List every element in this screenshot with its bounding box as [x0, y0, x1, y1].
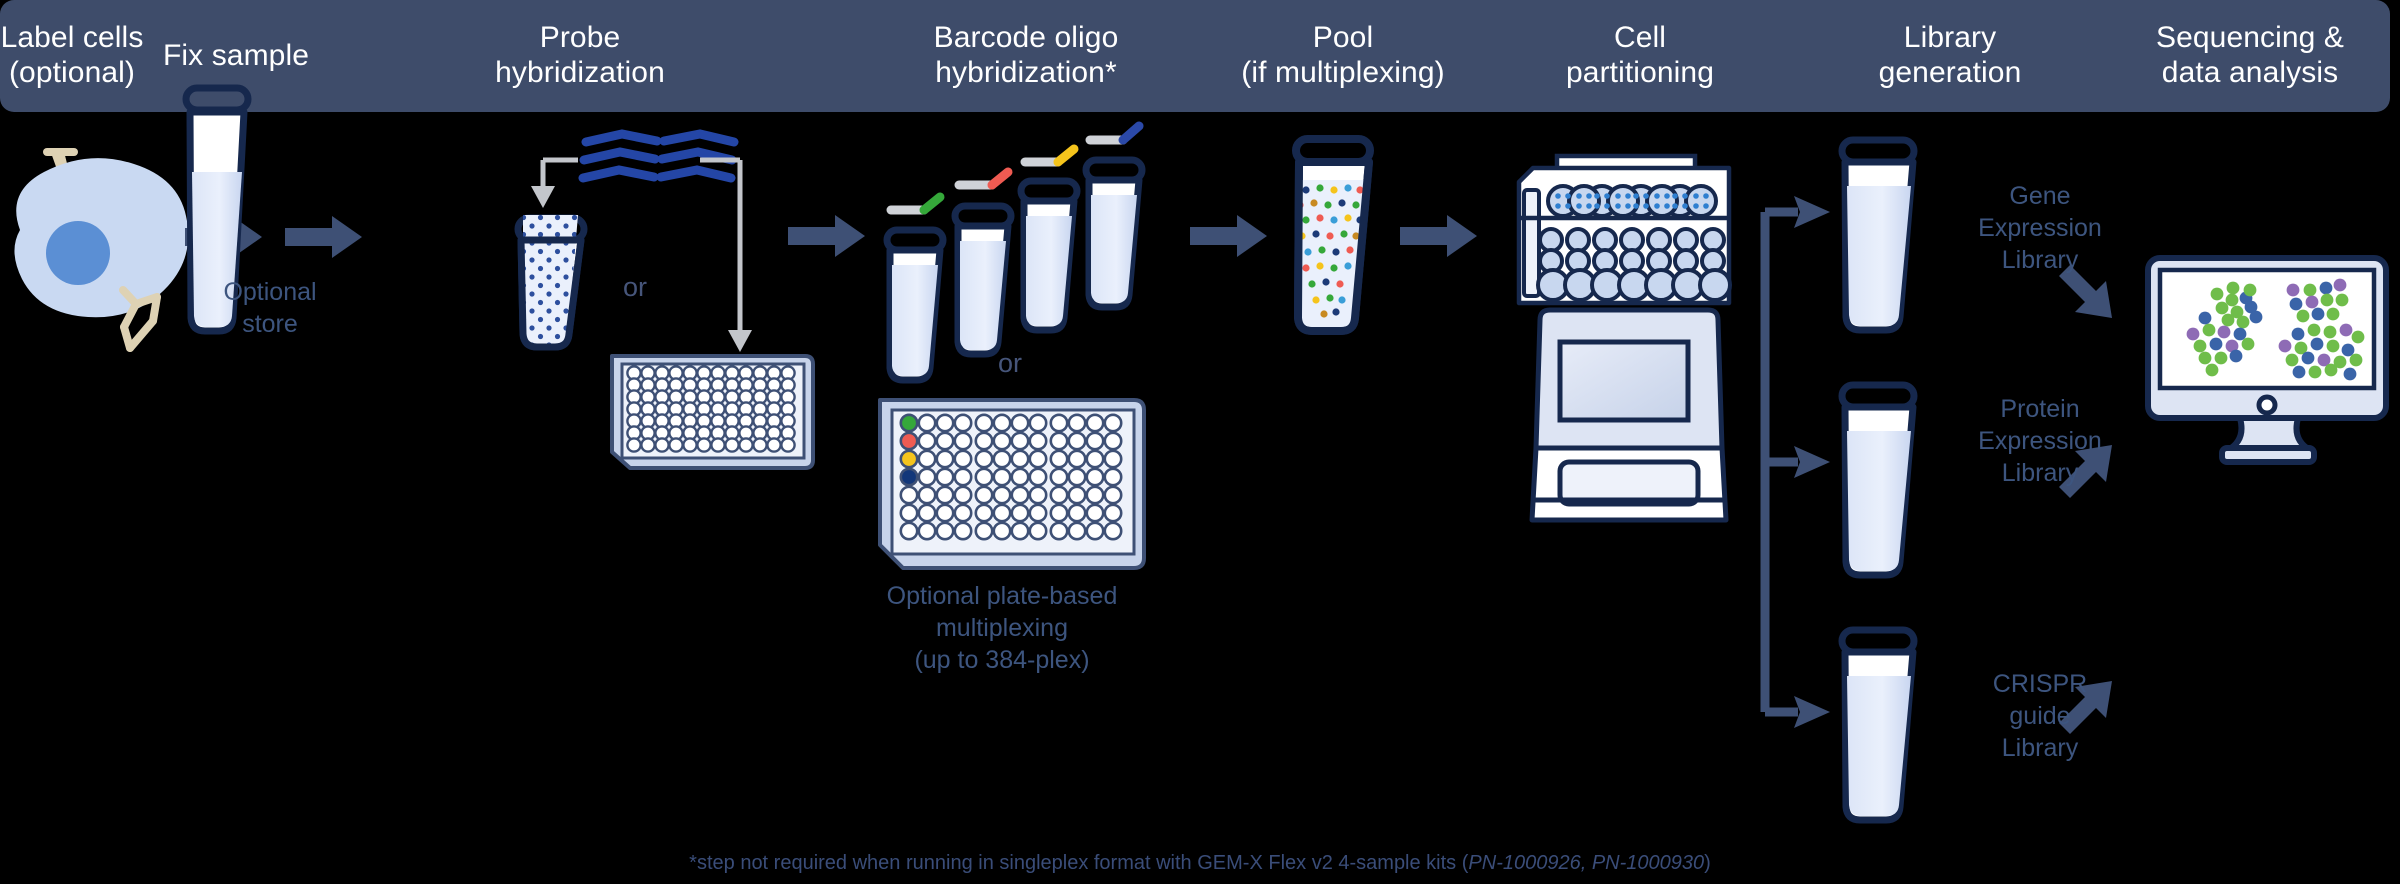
- caption-line1: CRISPR: [1930, 668, 2150, 700]
- cell-nucleus: [46, 221, 110, 285]
- caption-line1: Optional: [190, 276, 350, 308]
- protein-expression-library-label: Protein Expression Library: [1930, 393, 2150, 489]
- cell-with-antibodies-icon: [14, 152, 188, 348]
- probe-oligos-icon: [583, 134, 734, 178]
- barcode-tube-3: [1021, 149, 1077, 330]
- pool-tube-icon: [1290, 139, 1380, 340]
- library-branch-connector: [1765, 212, 1798, 712]
- workflow-diagram: Label cells (optional) Fix sample Probe …: [0, 0, 2400, 884]
- barcode-tube-4: [1086, 126, 1142, 307]
- barcode-oligo-green-icon: [891, 197, 940, 210]
- gene-expression-library-tube-icon: [1842, 140, 1914, 330]
- chip-bottom-wells: [1538, 270, 1730, 300]
- barcode-oligo-blue-icon: [1090, 126, 1139, 140]
- arrow-right-icon: [1400, 215, 1477, 257]
- arrow-right-icon: [1190, 215, 1267, 257]
- crispr-guide-library-tube-icon: [1842, 630, 1914, 820]
- antibody-icon: [123, 290, 157, 348]
- 96-well-plate-icon: [612, 356, 813, 468]
- probe-tube-icon: [515, 210, 595, 360]
- caption-line1: Protein: [1930, 393, 2150, 425]
- monitor-base: [2222, 448, 2314, 462]
- barcode-tube-1: [887, 197, 943, 380]
- footnote: *step not required when running in singl…: [0, 852, 2400, 875]
- footnote-tail: ): [1704, 852, 1711, 874]
- barcode-tube-2: [955, 172, 1011, 354]
- barcode-oligo-yellow-icon: [1025, 149, 1074, 162]
- footnote-part-numbers: PN-1000926, PN-1000930: [1468, 852, 1704, 874]
- crispr-guide-library-label: CRISPR guide Library: [1930, 668, 2150, 764]
- barcode-or-label: or: [970, 348, 1050, 379]
- library-branch-arrowhead: [1794, 196, 1830, 728]
- monitor-icon: [2148, 258, 2386, 462]
- caption-line2: Expression: [1930, 212, 2150, 244]
- protein-expression-library-tube-icon: [1842, 385, 1914, 575]
- barcode-oligo-red-icon: [959, 172, 1008, 185]
- monitor-power-led: [2259, 397, 2275, 413]
- chip-cartridge-icon: [1519, 156, 1730, 303]
- instrument-screen: [1560, 342, 1688, 420]
- caption-line3: Library: [1930, 244, 2150, 276]
- caption-line2: guide: [1930, 700, 2150, 732]
- arrow-right-icon: [788, 215, 865, 257]
- chromium-instrument-icon: [1532, 310, 1726, 520]
- caption-line1: Gene: [1930, 180, 2150, 212]
- caption-line2: store: [190, 308, 350, 340]
- gene-expression-library-label: Gene Expression Library: [1930, 180, 2150, 276]
- barcode-oligo-tubes: [887, 126, 1142, 380]
- caption-line2: Expression: [1930, 425, 2150, 457]
- arrow-right-icon: [285, 216, 362, 258]
- probe-or-label: or: [595, 272, 675, 303]
- caption-line3: (up to 384-plex): [862, 644, 1142, 676]
- chip-top-wells: [1548, 186, 1716, 216]
- caption-line1: Optional plate-based: [862, 580, 1142, 612]
- plate-caption: Optional plate-based multiplexing (up to…: [862, 580, 1142, 676]
- optional-store-caption: Optional store: [190, 276, 350, 340]
- multiplexing-plate-icon: [880, 400, 1144, 568]
- caption-line2: multiplexing: [862, 612, 1142, 644]
- caption-line3: Library: [1930, 732, 2150, 764]
- caption-line3: Library: [1930, 457, 2150, 489]
- footnote-text: *step not required when running in singl…: [689, 852, 1468, 874]
